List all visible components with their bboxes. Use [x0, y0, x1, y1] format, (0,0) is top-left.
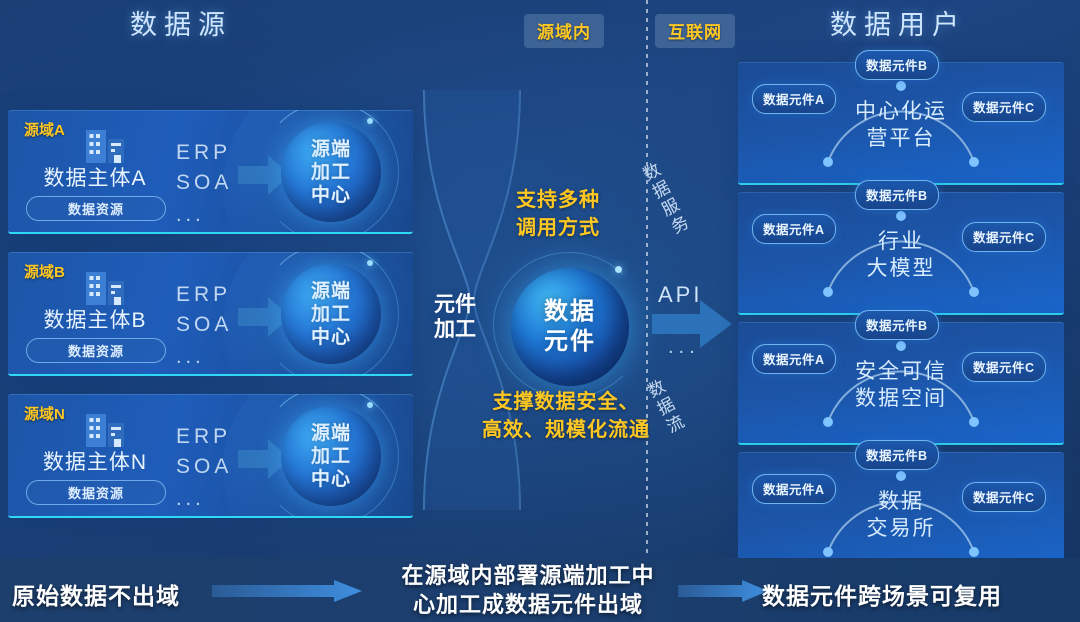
user-name-line1: 中心化运 — [855, 100, 947, 123]
data-element-sphere-group: 数据 元件 — [487, 250, 647, 400]
output-flow-arrow-icon — [652, 300, 732, 348]
data-element-chip-b: 数据元件B — [855, 310, 939, 340]
page-title-data-source: 数据源 — [130, 3, 232, 42]
data-element-chip-c: 数据元件C — [962, 222, 1046, 252]
note-secure-efficient-circulation: 支撑数据安全、 高效、规模化流通 — [482, 388, 650, 444]
page-title-data-user: 数据用户 — [830, 3, 966, 42]
hub-line-1: 源端 — [311, 423, 351, 444]
user-name-line2: 交易所 — [867, 517, 936, 540]
funnel-label-line2: 加工 — [434, 318, 476, 341]
note-top-line1: 支持多种 — [516, 189, 600, 211]
data-element-chip-c: 数据元件C — [962, 482, 1046, 512]
user-name-line2: 数据空间 — [855, 387, 947, 410]
data-resource-pill: 数据资源 — [26, 196, 166, 221]
source-domain-label: 源域A — [24, 119, 65, 140]
vertical-label-data-service: 数据服务 — [635, 159, 695, 241]
hub-line-1: 源端 — [311, 139, 351, 160]
data-element-chip-b: 数据元件B — [855, 50, 939, 80]
hub-line-2: 加工 — [311, 446, 351, 467]
note-multiple-invocation: 支持多种 调用方式 — [516, 186, 600, 242]
data-element-chip-b: 数据元件B — [855, 440, 939, 470]
building-icon — [84, 268, 128, 306]
data-element-chip-a: 数据元件A — [752, 474, 836, 504]
data-resource-pill: 数据资源 — [26, 338, 166, 363]
hub-line-3: 中心 — [311, 469, 351, 490]
data-user-card: 行业 大模型 数据元件B 数据元件A 数据元件C — [738, 192, 1064, 315]
building-icon — [84, 126, 128, 164]
component-processing-label: 元件 加工 — [424, 292, 486, 342]
user-name-line1: 数据 — [878, 490, 924, 513]
sphere-line1: 数据 — [544, 298, 596, 325]
source-processing-hub: 源端 加工 中心 — [281, 264, 381, 364]
hub-accent-dot — [367, 118, 373, 124]
building-icon — [84, 410, 128, 448]
user-name-line1: 安全可信 — [855, 360, 947, 383]
source-domain-card: 源域B 数据主体B 数据资源 ERP SOA ... 源端 加工 — [8, 252, 413, 376]
system-erp: ERP — [176, 283, 231, 306]
banner-step-2-line2: 心加工成数据元件出域 — [413, 592, 643, 617]
data-element-chip-a: 数据元件A — [752, 84, 836, 114]
data-user-card: 中心化运 营平台 数据元件B 数据元件A 数据元件C — [738, 62, 1064, 185]
system-erp: ERP — [176, 425, 231, 448]
banner-arrow-1-icon — [212, 580, 362, 602]
data-subject-name: 数据主体A — [20, 162, 170, 192]
hub-line-3: 中心 — [311, 327, 351, 348]
funnel-label-line1: 元件 — [434, 293, 476, 316]
source-processing-hub: 源端 加工 中心 — [281, 406, 381, 506]
note-top-line2: 调用方式 — [516, 217, 600, 239]
diagram-canvas: 数据源 数据用户 源域内 互联网 源域A 数据主体A 数据资源 ERP SOA … — [0, 0, 1080, 622]
system-more-dots: ... — [176, 484, 248, 514]
system-soa: SOA — [176, 455, 232, 478]
source-domain-card: 源域N 数据主体N 数据资源 ERP SOA ... 源端 加工 — [8, 394, 413, 518]
banner-step-1: 原始数据不出域 — [12, 577, 180, 611]
user-name-line1: 行业 — [878, 230, 924, 253]
hub-line-2: 加工 — [311, 304, 351, 325]
data-user-card: 安全可信 数据空间 数据元件B 数据元件A 数据元件C — [738, 322, 1064, 445]
data-resource-pill: 数据资源 — [26, 480, 166, 505]
source-domain-label: 源域N — [24, 403, 65, 424]
zone-tag-internet: 互联网 — [655, 14, 735, 48]
hub-accent-dot — [367, 260, 373, 266]
data-element-chip-b: 数据元件B — [855, 180, 939, 210]
hub-line-1: 源端 — [311, 281, 351, 302]
data-subject-name: 数据主体N — [20, 446, 170, 476]
source-domain-label: 源域B — [24, 261, 65, 282]
sphere-line2: 元件 — [544, 328, 596, 355]
bottom-summary-banner: 原始数据不出域 在源域内部署源端加工中 心加工成数据元件出域 数据元件跨场景可复… — [0, 558, 1080, 622]
sphere-accent-dot — [615, 266, 622, 273]
data-element-chip-c: 数据元件C — [962, 92, 1046, 122]
zone-tag-inner-domain: 源域内 — [524, 14, 604, 48]
system-more-dots: ... — [176, 200, 248, 230]
system-soa: SOA — [176, 313, 232, 336]
system-soa: SOA — [176, 171, 232, 194]
data-element-chip-a: 数据元件A — [752, 344, 836, 374]
banner-arrow-2-icon — [678, 580, 768, 602]
banner-step-3: 数据元件跨场景可复用 — [762, 577, 1002, 611]
banner-step-2: 在源域内部署源端加工中 心加工成数据元件出域 — [378, 561, 678, 619]
system-erp: ERP — [176, 141, 231, 164]
hub-line-3: 中心 — [311, 185, 351, 206]
data-element-chip-a: 数据元件A — [752, 214, 836, 244]
user-name-line2: 大模型 — [867, 257, 936, 280]
note-bottom-line1: 支撑数据安全、 — [493, 391, 640, 413]
data-subject-name: 数据主体B — [20, 304, 170, 334]
hub-line-2: 加工 — [311, 162, 351, 183]
note-bottom-line2: 高效、规模化流通 — [482, 419, 650, 441]
data-element-sphere: 数据 元件 — [511, 268, 629, 386]
system-more-dots: ... — [176, 342, 248, 372]
source-domain-card: 源域A 数据主体A 数据资源 ERP SOA ... 源端 加工 — [8, 110, 413, 234]
hub-accent-dot — [367, 402, 373, 408]
data-element-chip-c: 数据元件C — [962, 352, 1046, 382]
banner-step-2-line1: 在源域内部署源端加工中 — [401, 563, 654, 588]
user-name-line2: 营平台 — [867, 127, 936, 150]
data-user-card: 数据 交易所 数据元件B 数据元件A 数据元件C — [738, 452, 1064, 575]
source-processing-hub: 源端 加工 中心 — [281, 122, 381, 222]
